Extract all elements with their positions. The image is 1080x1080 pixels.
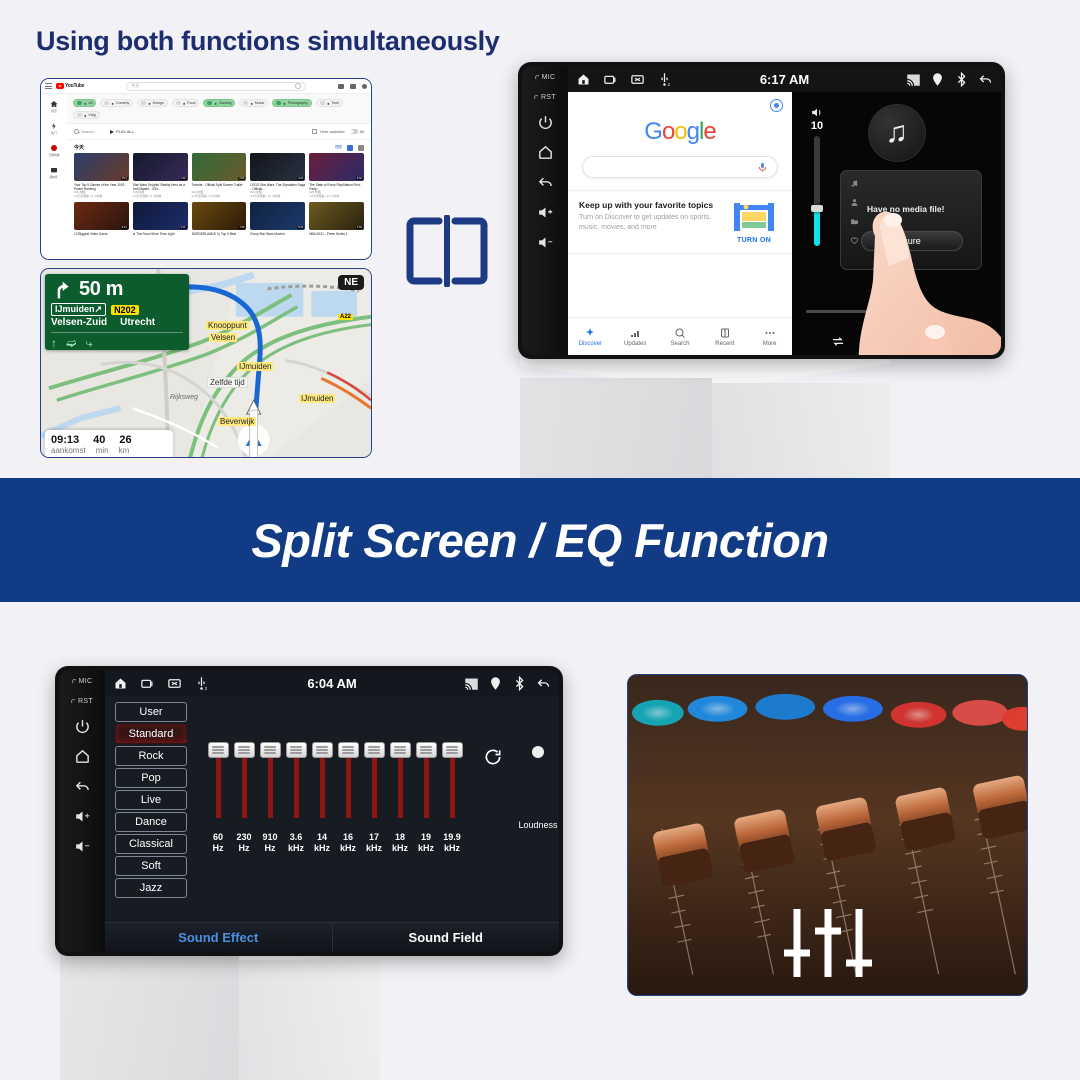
- favorite-icon[interactable]: [850, 236, 859, 245]
- dialog-side-icons: [850, 179, 859, 245]
- chip-label: Vlog: [88, 113, 95, 117]
- eq-band-label: 19kHz: [418, 832, 434, 855]
- album-art-placeholder: ♫: [868, 104, 926, 162]
- video-title: Is The Force More Than Light: [133, 232, 188, 240]
- search-icon[interactable]: [295, 83, 301, 89]
- youtube-chip[interactable]: ●All: [73, 99, 96, 107]
- turn-on-button[interactable]: TURN ON: [737, 237, 771, 244]
- eq-band-unit: kHz: [444, 843, 460, 853]
- eq-band-knob[interactable]: [312, 742, 333, 758]
- youtube-body: 首页 热门 订阅内容 媒体库 ●All●Comedy●Design●Food●G…: [41, 94, 371, 260]
- eq-band-fill: [320, 752, 325, 818]
- eq-band-unit: kHz: [314, 843, 330, 853]
- compass-indicator: NE: [338, 275, 364, 290]
- usb2-icon[interactable]: 2: [194, 676, 209, 691]
- split-screen-icon: [404, 215, 490, 287]
- eq-band-fill: [242, 752, 247, 818]
- eq-band-unit: Hz: [239, 843, 250, 853]
- eq-band-knob[interactable]: [364, 742, 385, 758]
- google-search-input[interactable]: [582, 156, 778, 178]
- google-nav-recent[interactable]: Recent: [702, 318, 747, 355]
- navigation-destination-arrow: ↗: [95, 304, 103, 314]
- youtube-video-grid: 8:11Your Top 5 Games of the Year 2019 - …: [67, 153, 371, 240]
- sidebar-item-label: 订阅内容: [49, 153, 60, 157]
- music-note-icon[interactable]: [850, 179, 859, 188]
- eq-band[interactable]: 910Hz: [257, 744, 283, 855]
- eq-preset-classical[interactable]: Classical: [115, 834, 187, 854]
- eq-tab-sound-effect[interactable]: Sound Effect: [105, 923, 332, 952]
- eq-band-unit: kHz: [288, 843, 304, 853]
- eq-band[interactable]: 17kHz: [361, 744, 387, 855]
- equalizer-preset-list: UserStandardRockPopLiveDanceClassicalSof…: [105, 702, 187, 922]
- eq-band-fill: [450, 752, 455, 818]
- media-progress-bar[interactable]: [806, 310, 868, 313]
- audio-mixer-photo: [627, 674, 1028, 996]
- folder-icon[interactable]: [850, 217, 859, 226]
- car-head-unit-split-screen: MIC RST 2 6:17 AM: [518, 62, 1005, 359]
- eq-band-fill: [268, 752, 273, 818]
- youtube-search-input[interactable]: 今天: [126, 82, 306, 91]
- video-title: Every Star Wars Movie's: [250, 232, 305, 240]
- video-duration: 8:11: [121, 177, 128, 180]
- eq-band-fill: [216, 752, 221, 818]
- equalizer-body: UserStandardRockPopLiveDanceClassicalSof…: [105, 696, 559, 922]
- eq-band-knob[interactable]: [338, 742, 359, 758]
- eq-band[interactable]: 18kHz: [387, 744, 413, 855]
- youtube-logo-text: YouTube: [65, 83, 84, 89]
- google-logo: Google: [568, 118, 792, 146]
- eq-band-unit: Hz: [213, 843, 224, 853]
- eq-band[interactable]: 19.9kHz: [439, 744, 465, 855]
- screen-off-icon[interactable]: [167, 676, 182, 691]
- video-duration: 0:51: [238, 177, 245, 180]
- more-icon: [764, 327, 776, 339]
- video-thumbnail[interactable]: 1:49: [133, 153, 188, 181]
- eq-band-knob[interactable]: [234, 742, 255, 758]
- chip-label: Design: [153, 101, 164, 105]
- equalizer-sliders-icon: [780, 905, 876, 981]
- chip-glyph-icon: ●: [148, 101, 150, 106]
- chip-glyph-icon: ●: [183, 101, 185, 106]
- cast-icon[interactable]: [906, 72, 921, 87]
- volume-track[interactable]: [814, 136, 820, 246]
- youtube-chip[interactable]: ●Vlog: [73, 111, 100, 119]
- video-thumbnail[interactable]: 3:21: [133, 202, 188, 230]
- volume-down-icon[interactable]: [537, 234, 554, 251]
- eq-band-freq: 19: [421, 832, 431, 842]
- play-icon: [110, 130, 114, 134]
- chip-label: Food: [187, 101, 195, 105]
- chip-glyph-icon: ●: [84, 101, 86, 106]
- map-label: Rijksweg: [168, 394, 200, 401]
- location-icon[interactable]: [930, 72, 945, 87]
- eq-band-label: 910Hz: [262, 832, 277, 855]
- svg-text:2: 2: [205, 685, 208, 690]
- video-card[interactable]: 7:08BORDERLANDS 3 | Top 5 Best: [192, 202, 247, 240]
- eq-band-rail[interactable]: [425, 744, 427, 818]
- checkbox-icon: [312, 129, 317, 134]
- eq-band-knob[interactable]: [286, 742, 307, 758]
- youtube-chip[interactable]: ●Tech: [316, 99, 343, 107]
- video-meta: 2.6万次观看 • 6 小时前: [74, 195, 129, 199]
- status-bar-top: 2 6:17 AM: [568, 66, 1001, 92]
- map-label: A22: [338, 314, 353, 320]
- youtube-chip[interactable]: ●Photography: [272, 99, 312, 107]
- home-icon[interactable]: [576, 72, 591, 87]
- hide-watched-label: Hide watched: [320, 129, 344, 134]
- trending-icon: [50, 122, 58, 130]
- google-nav-label: Discover: [579, 341, 602, 347]
- bottom-section: MIC RST 2 6:04 AM: [0, 602, 1080, 1080]
- eq-band-unit: kHz: [392, 843, 408, 853]
- chip-label: Tech: [332, 101, 340, 105]
- recents-icon[interactable]: [140, 676, 155, 691]
- reset-button[interactable]: RST: [534, 94, 556, 101]
- account-avatar-icon[interactable]: [770, 99, 783, 112]
- eq-band-fill: [424, 752, 429, 818]
- discover-card[interactable]: Keep up with your favorite topics Turn o…: [568, 190, 792, 254]
- video-card[interactable]: 8:30Every Star Wars Movie's: [250, 202, 305, 240]
- hide-watched-checkbox[interactable]: Hide watched: [312, 129, 344, 134]
- google-nav-label: Search: [670, 341, 689, 347]
- navigation-eta-panel: 09:13 40 26 aankomst min km: [45, 430, 173, 457]
- eq-band-knob[interactable]: [442, 742, 463, 758]
- video-thumbnail[interactable]: 7:08: [192, 202, 247, 230]
- back-arrow-icon[interactable]: [537, 174, 554, 191]
- navigation-exit-left: Velsen-Zuid: [51, 317, 107, 328]
- youtube-screenshot-card: YouTube 今天 首页 热门: [40, 78, 372, 260]
- cast-icon[interactable]: [464, 676, 479, 691]
- dialog-confirm-button[interactable]: sure: [861, 231, 963, 251]
- video-card[interactable]: 3:21Is The Force More Than Light: [133, 202, 188, 240]
- eq-band-freq: 19.9: [443, 832, 461, 842]
- youtube-topbar-icons: [338, 84, 367, 89]
- section-banner: Split Screen / EQ Function: [0, 478, 1080, 602]
- home-icon[interactable]: [113, 676, 128, 691]
- eq-band-fill: [346, 752, 351, 818]
- map-label: Beverwijk: [218, 417, 256, 426]
- video-duration: 8:30: [297, 226, 304, 229]
- video-card[interactable]: 0:51Fortnite - Official Split Screen Tra…: [192, 153, 247, 198]
- volume-down-icon[interactable]: [74, 838, 91, 855]
- sidebar-item-home[interactable]: 首页: [50, 100, 58, 113]
- updates-icon: [629, 327, 641, 339]
- google-nav-more[interactable]: More: [747, 318, 792, 355]
- sidebar-item-trending[interactable]: 热门: [50, 122, 58, 135]
- status-bar-time: 6:17 AM: [760, 72, 809, 87]
- eq-band-rail[interactable]: [321, 744, 323, 818]
- video-duration: 7:08: [238, 226, 245, 229]
- home-icon: [50, 100, 58, 108]
- volume-knob[interactable]: [811, 205, 823, 212]
- lane-guidance-icon: ↑ ➫ ⤷: [51, 332, 183, 351]
- video-duration: 4:53: [356, 226, 363, 229]
- eq-band-label: 19.9kHz: [443, 832, 461, 855]
- chip-glyph-icon: ●: [214, 101, 216, 106]
- media-transport-controls: [792, 334, 1001, 349]
- sidebar-item-library[interactable]: 媒体库: [49, 166, 58, 179]
- reset-icon[interactable]: [483, 747, 503, 767]
- eq-band-label: 230Hz: [236, 832, 251, 855]
- eq-band-rail[interactable]: [347, 744, 349, 818]
- youtube-chip[interactable]: ●Music: [239, 99, 268, 107]
- eq-band[interactable]: 60Hz: [205, 744, 231, 855]
- video-card[interactable]: 4:53NBA 2K21 - Prime Series 1: [309, 202, 364, 240]
- all-toggle[interactable]: All: [350, 129, 364, 134]
- map-label: Knooppunt: [206, 321, 249, 330]
- chip-toggle-icon: [276, 101, 281, 105]
- chip-label: Photography: [288, 101, 308, 105]
- eq-band-rail[interactable]: [269, 744, 271, 818]
- grid-view-icon[interactable]: [347, 145, 353, 151]
- youtube-sidebar: 首页 热门 订阅内容 媒体库: [41, 94, 67, 260]
- home-icon[interactable]: [537, 144, 554, 161]
- youtube-chip[interactable]: ●Comedy: [100, 99, 133, 107]
- video-duration: 1:49: [180, 177, 187, 180]
- eta-time-label: aankomst: [51, 446, 86, 455]
- video-thumbnail[interactable]: 9:02: [309, 153, 364, 181]
- eq-band[interactable]: 14kHz: [309, 744, 335, 855]
- youtube-play-icon: [56, 83, 64, 89]
- create-video-icon[interactable]: [338, 84, 344, 89]
- navigation-destination-chip: IJmuiden↗: [51, 303, 106, 316]
- play-icon[interactable]: [947, 334, 965, 349]
- eq-band-freq: 14: [317, 832, 327, 842]
- bluetooth-icon[interactable]: [512, 676, 527, 691]
- search-icon: [74, 129, 79, 134]
- video-thumbnail[interactable]: 4:53: [309, 202, 364, 230]
- usb2-icon[interactable]: 2: [657, 72, 672, 87]
- eq-band[interactable]: 3.6kHz: [283, 744, 309, 855]
- google-nav-updates[interactable]: Updates: [613, 318, 658, 355]
- eq-band-rail[interactable]: [399, 744, 401, 818]
- chip-label: Music: [255, 101, 264, 105]
- chip-toggle-icon: [77, 113, 82, 117]
- recents-icon[interactable]: [603, 72, 618, 87]
- eq-band-unit: kHz: [366, 843, 382, 853]
- eq-band-freq: 17: [369, 832, 379, 842]
- eq-preset-pop[interactable]: Pop: [115, 768, 187, 788]
- mic-button[interactable]: MIC: [72, 678, 93, 685]
- view-toggle-label[interactable]: 视图: [335, 145, 342, 150]
- eq-preset-rock[interactable]: Rock: [115, 746, 187, 766]
- reset-button[interactable]: RST: [71, 698, 93, 705]
- eq-band-rail[interactable]: [295, 744, 297, 818]
- video-title: 13 Biggest Video Game: [74, 232, 129, 240]
- power-icon[interactable]: [537, 114, 554, 131]
- video-thumbnail[interactable]: 8:11: [74, 153, 129, 181]
- eq-band-knob[interactable]: [390, 742, 411, 758]
- location-icon[interactable]: [488, 676, 503, 691]
- eq-preset-soft[interactable]: Soft: [115, 856, 187, 876]
- video-thumbnail[interactable]: 8:30: [250, 202, 305, 230]
- eq-band-label: 16kHz: [340, 832, 356, 855]
- back-arrow-icon[interactable]: [536, 676, 551, 691]
- eq-band-freq: 3.6: [290, 832, 303, 842]
- eq-band[interactable]: 16kHz: [335, 744, 361, 855]
- eq-preset-user[interactable]: User: [115, 702, 187, 722]
- list-view-icon[interactable]: [358, 145, 364, 151]
- youtube-chip[interactable]: ●Gaming: [203, 99, 235, 107]
- chip-label: Comedy: [116, 101, 129, 105]
- banner-title: Split Screen / EQ Function: [251, 513, 828, 568]
- google-app-pane: Google Keep up with your favorite topics…: [568, 92, 792, 355]
- screen-off-icon[interactable]: [630, 72, 645, 87]
- youtube-filter-bar: Search... PLAY ALL Hide watched All: [67, 124, 371, 140]
- play-all-button[interactable]: PLAY ALL: [110, 129, 134, 134]
- head-unit-screen-top: 2 6:17 AM Google: [568, 66, 1001, 355]
- artist-icon[interactable]: [850, 198, 859, 207]
- volume-up-icon[interactable]: [537, 204, 554, 221]
- sidebar-item-label: 热门: [51, 131, 56, 135]
- eq-band-label: 18kHz: [392, 832, 408, 855]
- volume-up-icon[interactable]: [74, 808, 91, 825]
- loudness-label: Loudness: [518, 820, 557, 830]
- chip-toggle-icon: [243, 101, 248, 105]
- mic-icon[interactable]: [757, 161, 768, 174]
- google-bottom-nav: DiscoverUpdatesSearchRecentMore: [568, 317, 792, 355]
- eq-band-label: 14kHz: [314, 832, 330, 855]
- video-thumbnail[interactable]: 6:31: [74, 202, 129, 230]
- video-meta: 4.3万次观看 • 9 小时前: [192, 195, 247, 199]
- eq-band[interactable]: 19kHz: [413, 744, 439, 855]
- top-section: Using both functions simultaneously YouT…: [0, 0, 1080, 480]
- eq-band-knob[interactable]: [208, 742, 229, 758]
- navigation-distance: 50 m: [79, 278, 123, 301]
- recent-icon: [719, 327, 731, 339]
- chip-glyph-icon: ●: [84, 113, 86, 118]
- previous-track-icon[interactable]: [888, 334, 906, 349]
- youtube-main: ●All●Comedy●Design●Food●Gaming●Music●Pho…: [67, 94, 371, 260]
- media-player-pane: 10 ♫: [792, 92, 1001, 355]
- eq-band-rail[interactable]: [373, 744, 375, 818]
- chip-glyph-icon: ●: [250, 101, 252, 106]
- mic-button[interactable]: MIC: [535, 74, 556, 81]
- eq-band-rail[interactable]: [217, 744, 219, 818]
- play-all-label: PLAY ALL: [116, 129, 134, 134]
- google-nav-discover[interactable]: Discover: [568, 318, 613, 355]
- subscriptions-icon: [50, 144, 58, 152]
- volume-icon: [810, 106, 824, 119]
- equalizer-main: 60Hz230Hz910Hz3.6kHz14kHz16kHz17kHz18kHz…: [187, 702, 559, 922]
- eq-band-rail[interactable]: [243, 744, 245, 818]
- avatar[interactable]: [362, 84, 367, 89]
- video-card[interactable]: 9:02The State of Every PlayStation First…: [309, 153, 364, 198]
- volume-fill: [814, 208, 820, 246]
- eq-band-freq: 60: [213, 832, 223, 842]
- map-label: Velsen: [209, 333, 237, 342]
- youtube-logo: YouTube: [56, 83, 84, 89]
- home-icon[interactable]: [74, 748, 91, 765]
- loudness-control[interactable]: Loudness: [532, 746, 544, 758]
- bluetooth-icon[interactable]: [954, 72, 969, 87]
- navigation-map-card[interactable]: 50 m IJmuiden↗ N202 Velsen-Zuid Utrecht …: [40, 268, 372, 458]
- discover-card-description: Turn on Discover to get updates on sport…: [579, 213, 721, 233]
- video-meta: 6.5万次观看 • 10 小时前: [250, 195, 305, 199]
- eq-band-label: 3.6kHz: [288, 832, 304, 855]
- eq-band-knob[interactable]: [416, 742, 437, 758]
- eq-preset-live[interactable]: Live: [115, 790, 187, 810]
- eta-km: 26: [119, 434, 131, 446]
- eq-band-unit: Hz: [265, 843, 276, 853]
- video-card[interactable]: 6:3113 Biggest Video Game: [74, 202, 129, 240]
- map-label: IJmuiden: [299, 394, 335, 403]
- chip-glyph-icon: ●: [283, 101, 285, 106]
- eq-band-unit: kHz: [418, 843, 434, 853]
- video-card[interactable]: 2:00LEGO Star Wars: The Skywalker Saga -…: [250, 153, 305, 198]
- eq-band-rail[interactable]: [451, 744, 453, 818]
- eq-preset-jazz[interactable]: Jazz: [115, 878, 187, 898]
- eq-band-fill: [294, 752, 299, 818]
- video-duration: 3:21: [180, 226, 187, 229]
- google-nav-search[interactable]: Search: [658, 318, 703, 355]
- equalizer-screen: 2 6:04 AM UserStandardRockPopLiveDanceCl…: [105, 670, 559, 952]
- navigation-exit-right: Utrecht: [120, 317, 155, 328]
- google-nav-label: Updates: [624, 341, 646, 347]
- loudness-knob[interactable]: [532, 746, 544, 758]
- eq-tab-sound-field[interactable]: Sound Field: [332, 923, 560, 952]
- chip-toggle-icon: [320, 101, 325, 105]
- dialog-message: Have no media file!: [867, 204, 944, 214]
- turn-right-icon: [51, 280, 71, 300]
- chip-label: All: [88, 101, 92, 105]
- playlist-search[interactable]: Search...: [74, 129, 97, 134]
- apps-grid-icon[interactable]: [350, 84, 356, 89]
- equalizer-band-sliders: 60Hz230Hz910Hz3.6kHz14kHz16kHz17kHz18kHz…: [205, 702, 559, 855]
- sidebar-item-subscriptions[interactable]: 订阅内容: [48, 144, 60, 157]
- chip-toggle-icon: [207, 101, 212, 105]
- back-arrow-icon[interactable]: [74, 778, 91, 795]
- chip-toggle-icon: [77, 101, 82, 105]
- youtube-chip[interactable]: ●Design: [137, 99, 168, 107]
- sidebar-item-label: 首页: [51, 109, 56, 113]
- video-thumbnail[interactable]: 2:00: [250, 153, 305, 181]
- eta-minutes-label: min: [96, 446, 109, 455]
- navigation-destination-text: IJmuiden: [55, 304, 95, 314]
- volume-slider[interactable]: 10: [806, 106, 828, 246]
- hamburger-menu-icon[interactable]: [45, 83, 52, 89]
- youtube-filter-chips: ●All●Comedy●Design●Food●Gaming●Music●Pho…: [67, 94, 371, 124]
- eq-preset-standard[interactable]: Standard: [115, 724, 187, 744]
- library-icon: [50, 166, 58, 174]
- video-card[interactable]: 8:11Your Top 5 Games of the Year 2019 - …: [74, 153, 129, 198]
- chip-glyph-icon: ●: [111, 101, 113, 106]
- split-screen-content: Google Keep up with your favorite topics…: [568, 92, 1001, 355]
- navigation-instruction-banner: 50 m IJmuiden↗ N202 Velsen-Zuid Utrecht …: [45, 274, 189, 350]
- equalizer-tabs: Sound EffectSound Field: [105, 922, 559, 952]
- video-meta: 1.6万次观看 • 8 小时前: [133, 195, 188, 199]
- repeat-icon[interactable]: [829, 334, 847, 349]
- toggle-icon: [350, 129, 358, 134]
- eq-band-unit: kHz: [340, 843, 356, 853]
- video-card[interactable]: 1:49Star Wars 'Knights' Reality Hero as …: [133, 153, 188, 198]
- video-duration: 9:02: [356, 177, 363, 180]
- playlist-search-label: Search...: [81, 129, 97, 134]
- video-thumbnail[interactable]: 0:51: [192, 153, 247, 181]
- no-media-dialog: Have no media file! sure: [840, 170, 982, 270]
- power-icon[interactable]: [74, 718, 91, 735]
- video-duration: 6:31: [121, 226, 128, 229]
- chip-glyph-icon: ●: [327, 101, 329, 106]
- eta-minutes: 40: [93, 434, 105, 446]
- eq-preset-dance[interactable]: Dance: [115, 812, 187, 832]
- youtube-chip[interactable]: ●Food: [172, 99, 200, 107]
- map-label: IJmuiden: [237, 362, 273, 371]
- eq-band-label: 60Hz: [213, 832, 224, 855]
- back-arrow-icon[interactable]: [978, 72, 993, 87]
- eq-band[interactable]: 230Hz: [231, 744, 257, 855]
- eq-band-knob[interactable]: [260, 742, 281, 758]
